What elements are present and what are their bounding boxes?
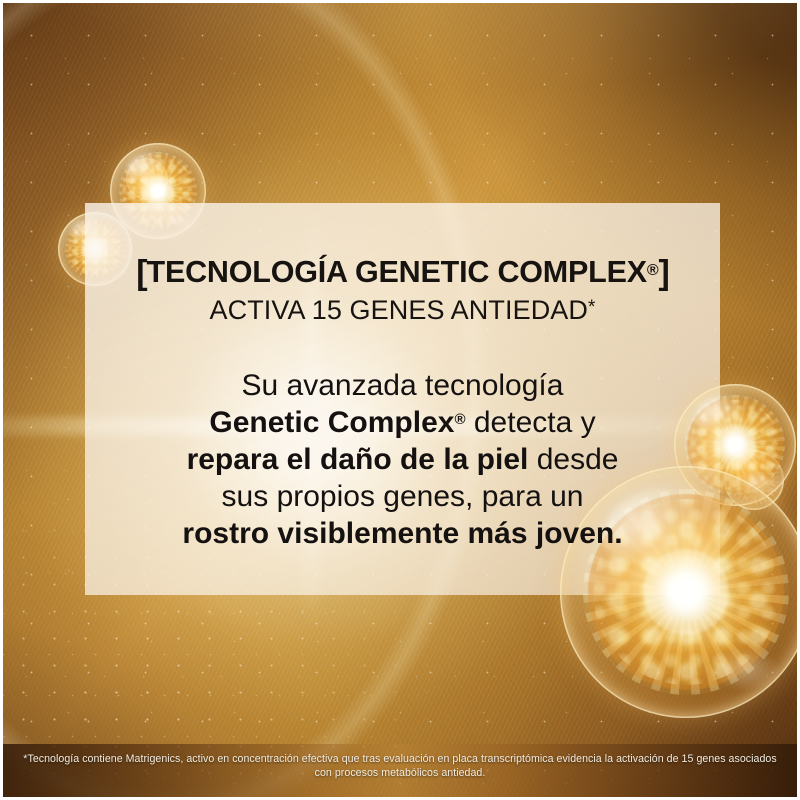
- registered-trademark-icon: ®: [647, 262, 659, 279]
- headline-secondary-text: ACTIVA 15 GENES ANTIEDAD: [209, 295, 588, 325]
- body-line-1: Su avanzada tecnología: [85, 367, 720, 404]
- body-line-3-bold: repara el daño de la piel: [187, 443, 529, 476]
- footnote-asterisk-icon: *: [588, 297, 596, 318]
- body-line-5: rostro visiblemente más joven.: [85, 515, 720, 552]
- headline-primary-text: TECNOLOGÍA GENETIC COMPLEX: [147, 255, 647, 289]
- body-line-5-bold: rostro visiblemente más joven.: [182, 517, 622, 550]
- footnote-line-1: *Tecnología contiene Matrigenics, activo…: [23, 753, 693, 765]
- canvas-edge-top: [0, 0, 800, 3]
- headline-primary: [TECNOLOGÍA GENETIC COMPLEX®]: [85, 255, 720, 292]
- body-line-3: repara el daño de la piel desde: [85, 441, 720, 478]
- headline-secondary: ACTIVA 15 GENES ANTIEDAD*: [85, 295, 720, 325]
- advertisement-canvas: [TECNOLOGÍA GENETIC COMPLEX®] ACTIVA 15 …: [0, 0, 800, 800]
- body-line-2-rest: detecta y: [466, 406, 596, 439]
- body-line-1-text: Su avanzada tecnología: [242, 369, 564, 402]
- body-copy-block: Su avanzada tecnología Genetic Complex® …: [85, 367, 720, 552]
- body-line-2: Genetic Complex® detecta y: [85, 404, 720, 441]
- headline-block: [TECNOLOGÍA GENETIC COMPLEX®] ACTIVA 15 …: [85, 255, 720, 325]
- body-line-4-text: sus propios genes, para un: [222, 480, 584, 513]
- headline-bracket-open: [: [136, 254, 146, 292]
- body-line-2-bold: Genetic Complex: [209, 406, 454, 439]
- footnote-text-block: *Tecnología contiene Matrigenics, activo…: [14, 752, 786, 780]
- body-line-4: sus propios genes, para un: [85, 478, 720, 515]
- body-line-3-rest: desde: [528, 443, 618, 476]
- footnote-bar: *Tecnología contiene Matrigenics, activo…: [0, 744, 800, 800]
- canvas-edge-left: [0, 0, 3, 800]
- registered-trademark-icon: ®: [454, 411, 465, 428]
- headline-bracket-close: ]: [658, 254, 668, 292]
